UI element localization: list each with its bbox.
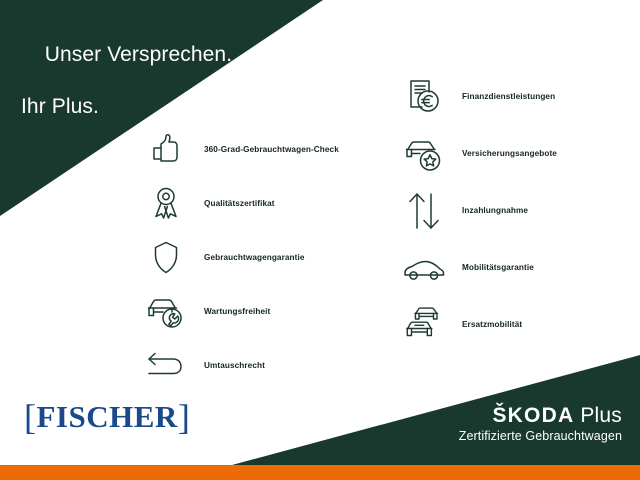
feature-label: Wartungsfreiheit [204, 307, 270, 316]
feature-label: Inzahlungnahme [462, 206, 528, 215]
feature-label: Umtauschrecht [204, 361, 265, 370]
feature-item: Finanzdienstleistungen [398, 68, 557, 125]
dealer-logo-name: FISCHER [37, 399, 178, 434]
skoda-wordmark: ŠKODA [492, 404, 574, 427]
feature-label: Gebrauchtwagengarantie [204, 253, 304, 262]
feature-item: Inzahlungnahme [398, 182, 557, 239]
feature-item: Ersatzmobilität [398, 296, 557, 353]
dealer-logo-bracket-close: ] [178, 397, 191, 437]
dealer-logo: [FISCHER] [24, 400, 190, 434]
plus-wordmark: Plus [574, 404, 622, 427]
skoda-plus-logo: ŠKODA Plus Zertifizierte Gebrauchtwagen [459, 404, 622, 444]
headline-line-1: Unser Versprechen. [45, 43, 232, 66]
two-cars-icon [398, 299, 450, 351]
document-euro-icon [398, 71, 450, 123]
feature-label: Mobilitätsgarantie [462, 263, 534, 272]
feature-label: 360-Grad-Gebrauchtwagen-Check [204, 145, 339, 154]
feature-label: Qualitätszertifikat [204, 199, 275, 208]
feature-label: Finanzdienstleistungen [462, 92, 555, 101]
feature-item: Wartungsfreiheit [140, 284, 339, 338]
feature-item: Umtauschrecht [140, 338, 339, 392]
feature-item: Gebrauchtwagengarantie [140, 230, 339, 284]
feature-item: Qualitätszertifikat [140, 176, 339, 230]
car-wrench-icon [140, 285, 192, 337]
feature-label: Versicherungsangebote [462, 149, 557, 158]
thumbs-up-icon [140, 123, 192, 175]
dealer-logo-bracket-open: [ [24, 397, 37, 437]
headline-line-2: Ihr Plus. [21, 94, 232, 120]
brand-wordmark-row: ŠKODA Plus [459, 404, 622, 427]
feature-item: Versicherungsangebote [398, 125, 557, 182]
feature-item: 360-Grad-Gebrauchtwagen-Check [140, 122, 339, 176]
orange-accent-bar [0, 465, 640, 480]
shield-icon [140, 231, 192, 283]
feature-column-left: 360-Grad-Gebrauchtwagen-Check Qualitätsz… [140, 122, 339, 392]
feature-label: Ersatzmobilität [462, 320, 522, 329]
feature-column-right: Finanzdienstleistungen Versicherungsange… [398, 68, 557, 353]
return-arrow-icon [140, 339, 192, 391]
quality-rosette-icon [140, 177, 192, 229]
up-down-arrows-icon [398, 185, 450, 237]
promo-banner: Unser Versprechen. Ihr Plus. 360-Grad-Ge… [0, 0, 640, 480]
car-star-icon [398, 128, 450, 180]
feature-item: Mobilitätsgarantie [398, 239, 557, 296]
car-side-icon [398, 242, 450, 294]
brand-tagline: Zertifizierte Gebrauchtwagen [459, 428, 622, 444]
